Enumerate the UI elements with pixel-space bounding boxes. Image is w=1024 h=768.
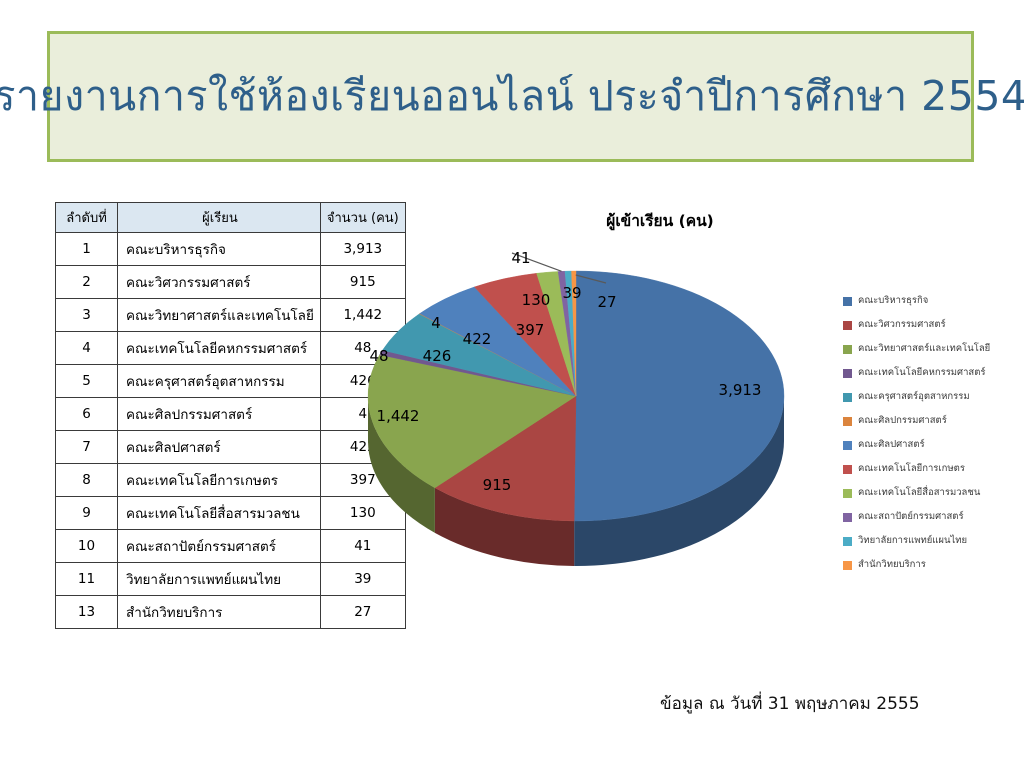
legend-item[interactable]: คณะบริหารธุรกิจ (843, 289, 1018, 313)
legend-swatch-icon (843, 441, 852, 450)
table-body: 1คณะบริหารธุรกิจ3,9132คณะวิศวกรรมศาสตร์9… (56, 233, 406, 629)
column-header-name: ผู้เรียน (118, 203, 321, 233)
cell-name: คณะวิทยาศาสตร์และเทคโนโลยี (118, 299, 321, 332)
cell-name: คณะวิศวกรรมศาสตร์ (118, 266, 321, 299)
legend-swatch-icon (843, 345, 852, 354)
table-row: 7คณะศิลปศาสตร์422 (56, 431, 406, 464)
legend-item[interactable]: วิทยาลัยการแพทย์แผนไทย (843, 529, 1018, 553)
cell-no: 10 (56, 530, 118, 563)
cell-no: 3 (56, 299, 118, 332)
table-row: 10คณะสถาปัตย์กรรมศาสตร์41 (56, 530, 406, 563)
legend-item-label: คณะเทคโนโลยีสื่อสารมวลชน (858, 488, 980, 498)
table-header-row: ลำดับที่ ผู้เรียน จำนวน (คน) (56, 203, 406, 233)
legend-item[interactable]: คณะครุศาสตร์อุตสาหกรรม (843, 385, 1018, 409)
legend-item-label: คณะวิทยาศาสตร์และเทคโนโลยี (858, 344, 990, 354)
cell-no: 8 (56, 464, 118, 497)
legend-item[interactable]: คณะศิลปกรรมศาสตร์ (843, 409, 1018, 433)
legend-item[interactable]: คณะเทคโนโลยีการเกษตร (843, 457, 1018, 481)
column-header-no: ลำดับที่ (56, 203, 118, 233)
cell-name: คณะเทคโนโลยีการเกษตร (118, 464, 321, 497)
cell-no: 2 (56, 266, 118, 299)
legend-swatch-icon (843, 561, 852, 570)
cell-no: 5 (56, 365, 118, 398)
legend-item-label: คณะเทคโนโลยีคหกรรมศาสตร์ (858, 368, 986, 378)
cell-no: 6 (56, 398, 118, 431)
table-row: 2คณะวิศวกรรมศาสตร์915 (56, 266, 406, 299)
cell-no: 11 (56, 563, 118, 596)
cell-name: คณะเทคโนโลยีคหกรรมศาสตร์ (118, 332, 321, 365)
legend-item-label: คณะสถาปัตย์กรรมศาสตร์ (858, 512, 964, 522)
legend-item[interactable]: คณะเทคโนโลยีคหกรรมศาสตร์ (843, 361, 1018, 385)
table-row: 3คณะวิทยาศาสตร์และเทคโนโลยี1,442 (56, 299, 406, 332)
legend-item-label: คณะศิลปศาสตร์ (858, 440, 925, 450)
table-row: 1คณะบริหารธุรกิจ3,913 (56, 233, 406, 266)
legend-swatch-icon (843, 417, 852, 426)
legend-swatch-icon (843, 297, 852, 306)
table-row: 6คณะศิลปกรรมศาสตร์4 (56, 398, 406, 431)
legend-item-label: คณะเทคโนโลยีการเกษตร (858, 464, 965, 474)
cell-name: คณะสถาปัตย์กรรมศาสตร์ (118, 530, 321, 563)
leader-line (512, 253, 562, 271)
cell-name: คณะศิลปกรรมศาสตร์ (118, 398, 321, 431)
cell-name: คณะครุศาสตร์อุตสาหกรรม (118, 365, 321, 398)
learner-count-table: ลำดับที่ ผู้เรียน จำนวน (คน) 1คณะบริหารธ… (55, 202, 406, 629)
legend-item-label: คณะศิลปกรรมศาสตร์ (858, 416, 947, 426)
slide-title-banner: รายงานการใช้ห้องเรียนออนไลน์ ประจำปีการศ… (47, 31, 974, 162)
legend-item[interactable]: คณะวิศวกรรมศาสตร์ (843, 313, 1018, 337)
legend-swatch-icon (843, 393, 852, 402)
cell-no: 9 (56, 497, 118, 530)
data-table-container: ลำดับที่ ผู้เรียน จำนวน (คน) 1คณะบริหารธ… (55, 202, 406, 629)
cell-name: คณะเทคโนโลยีสื่อสารมวลชน (118, 497, 321, 530)
legend-swatch-icon (843, 537, 852, 546)
table-row: 5คณะครุศาสตร์อุตสาหกรรม426 (56, 365, 406, 398)
legend-swatch-icon (843, 369, 852, 378)
legend-item-label: คณะบริหารธุรกิจ (858, 296, 928, 306)
chart-legend: คณะบริหารธุรกิจคณะวิศวกรรมศาสตร์คณะวิทยา… (843, 289, 1018, 577)
table-row: 13สำนักวิทยบริการ27 (56, 596, 406, 629)
legend-item-label: สำนักวิทยบริการ (858, 560, 926, 570)
legend-swatch-icon (843, 513, 852, 522)
legend-item-label: คณะครุศาสตร์อุตสาหกรรม (858, 392, 970, 402)
table-row: 8คณะเทคโนโลยีการเกษตร397 (56, 464, 406, 497)
cell-name: วิทยาลัยการแพทย์แผนไทย (118, 563, 321, 596)
table-row: 9คณะเทคโนโลยีสื่อสารมวลชน130 (56, 497, 406, 530)
cell-name: คณะบริหารธุรกิจ (118, 233, 321, 266)
legend-swatch-icon (843, 489, 852, 498)
legend-item-label: วิทยาลัยการแพทย์แผนไทย (858, 536, 967, 546)
cell-no: 4 (56, 332, 118, 365)
legend-swatch-icon (843, 321, 852, 330)
cell-no: 1 (56, 233, 118, 266)
cell-no: 13 (56, 596, 118, 629)
legend-item-label: คณะวิศวกรรมศาสตร์ (858, 320, 946, 330)
cell-name: สำนักวิทยบริการ (118, 596, 321, 629)
legend-item[interactable]: สำนักวิทยบริการ (843, 553, 1018, 577)
legend-item[interactable]: คณะสถาปัตย์กรรมศาสตร์ (843, 505, 1018, 529)
table-row: 11วิทยาลัยการแพทย์แผนไทย39 (56, 563, 406, 596)
legend-swatch-icon (843, 465, 852, 474)
legend-item[interactable]: คณะวิทยาศาสตร์และเทคโนโลยี (843, 337, 1018, 361)
table-row: 4คณะเทคโนโลยีคหกรรมศาสตร์48 (56, 332, 406, 365)
page-title: รายงานการใช้ห้องเรียนออนไลน์ ประจำปีการศ… (0, 72, 1024, 121)
data-as-of-note: ข้อมูล ณ วันที่ 31 พฤษภาคม 2555 (660, 690, 920, 717)
legend-item[interactable]: คณะเทคโนโลยีสื่อสารมวลชน (843, 481, 1018, 505)
legend-item[interactable]: คณะศิลปศาสตร์ (843, 433, 1018, 457)
cell-no: 7 (56, 431, 118, 464)
cell-name: คณะศิลปศาสตร์ (118, 431, 321, 464)
